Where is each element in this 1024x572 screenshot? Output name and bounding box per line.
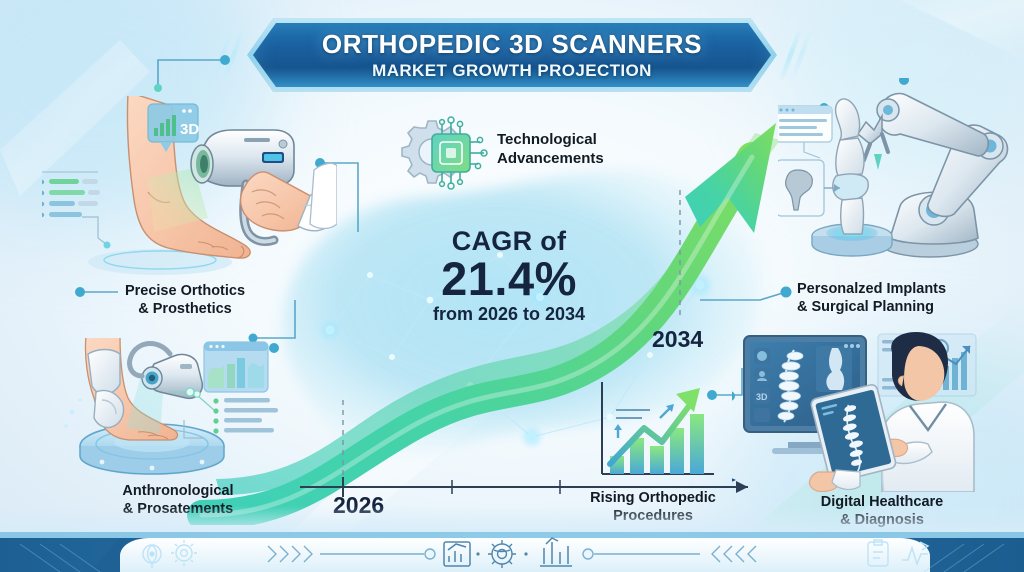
svg-text:3D: 3D <box>180 121 199 138</box>
knee-scan-image <box>816 346 852 392</box>
callout-line-2: & Surgical Planning <box>797 299 1012 317</box>
knee-joint-model <box>833 99 868 234</box>
illustration-doctor-diagnostics: 3D <box>732 332 1022 492</box>
rising-procedures-chart-icon <box>588 376 720 486</box>
illustration-turntable-foot-scan <box>52 338 332 483</box>
callout-precise-orthotics: Precise Orthotics & Prosthetics <box>95 283 275 318</box>
callout-personalized-implants: Personalzed Implants & Surgical Planning <box>797 281 1012 316</box>
infographic-canvas: ORTHOPEDIC 3D SCANNERS MARKET GROWTH PRO… <box>0 0 1024 572</box>
svg-text:3D: 3D <box>756 392 768 402</box>
callout-anthronological: Anthronological & Prosatements <box>78 483 278 518</box>
driver-rising-procedures: Rising Orthopedic Procedures <box>578 490 728 525</box>
driver-line-1: Rising Orthopedic <box>578 490 728 508</box>
footer-bar <box>0 532 1024 572</box>
callout-line-1: Precise Orthotics <box>95 283 275 301</box>
illustration-handheld-foot-scan: 3D <box>42 96 337 281</box>
callout-line-2: & Prosatements <box>78 501 278 519</box>
illustration-robotic-arm-implant <box>778 78 1022 273</box>
callout-line-1: Anthronological <box>78 483 278 501</box>
callout-line-1: Personalzed Implants <box>797 281 1012 299</box>
driver-line-2: Procedures <box>578 508 728 526</box>
callout-line-2: & Diagnosis <box>782 512 982 530</box>
gear-microchip-icon <box>398 116 490 196</box>
driver-label-text: Technological Advancements <box>497 131 604 167</box>
callout-line-1: Digital Healthcare <box>782 494 982 512</box>
callout-digital-healthcare: Digital Healthcare & Diagnosis <box>782 494 982 529</box>
callout-line-2: & Prosthetics <box>95 301 275 319</box>
driver-technological-advancements: Technological Advancements <box>497 131 647 169</box>
